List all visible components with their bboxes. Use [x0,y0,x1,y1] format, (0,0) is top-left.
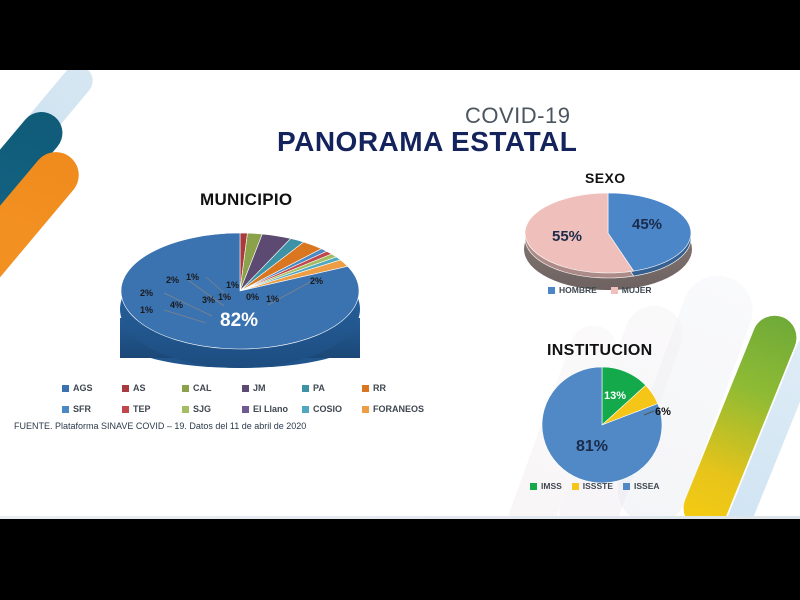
chart-institucion[interactable]: 13% 6% 81% [540,365,680,490]
legend-label: HOMBRE [559,285,597,295]
letterbox-top [0,0,800,70]
legend-label: JM [253,383,266,393]
pie-label-mujer: 55% [552,228,582,245]
legend-swatch-icon [623,483,630,490]
legend-label: FORANEOS [373,404,424,414]
pie-data-label: 2% [310,276,323,286]
legend-label: AS [133,383,146,393]
legend-item[interactable]: JM [242,383,302,393]
legend-swatch-icon [122,385,129,392]
legend-label: ISSEA [634,481,660,491]
legend-label: TEP [133,404,151,414]
chart-title-sexo: SEXO [585,170,626,186]
pie-data-label: 1% [226,280,239,290]
presentation-slide: COVID-19 PANORAMA ESTATAL MUNICIPIO 82% … [0,70,800,519]
legend-swatch-icon [302,385,309,392]
leader-line [164,310,206,323]
legend-label: SFR [73,404,91,414]
legend-label: El Llano [253,404,288,414]
source-footnote: FUENTE. Plataforma SINAVE COVID – 19. Da… [14,421,306,431]
pie-data-label: 3% [202,295,215,305]
chart-title-institucion: INSTITUCION [547,342,653,360]
legend-swatch-icon [611,287,618,294]
pie-data-label: 0% [246,292,259,302]
legend-item[interactable]: ISSEA [623,481,660,491]
legend-item[interactable]: TEP [122,404,182,414]
legend-institucion[interactable]: IMSSISSSTEISSEA [530,481,660,491]
legend-swatch-icon [572,483,579,490]
pie-data-label: 1% [140,305,153,315]
legend-item[interactable]: RR [362,383,422,393]
legend-item[interactable]: CAL [182,383,242,393]
legend-swatch-icon [182,385,189,392]
legend-swatch-icon [362,406,369,413]
pie-label-imss: 13% [604,390,626,402]
legend-swatch-icon [530,483,537,490]
legend-label: MUJER [622,285,652,295]
legend-item[interactable]: SFR [62,404,122,414]
legend-item[interactable]: AGS [62,383,122,393]
legend-label: AGS [73,383,93,393]
legend-item[interactable]: El Llano [242,404,302,414]
page-title: PANORAMA ESTATAL [277,126,577,158]
pie-leader-lines [120,210,380,410]
pie-label-issea: 81% [576,438,608,456]
legend-swatch-icon [362,385,369,392]
legend-label: COSIO [313,404,342,414]
pie-data-label: 2% [166,275,179,285]
legend-swatch-icon [242,406,249,413]
pie-data-label: 4% [170,300,183,310]
legend-swatch-icon [182,406,189,413]
legend-item[interactable]: FORANEOS [362,404,422,414]
legend-item[interactable]: IMSS [530,481,562,491]
pie-data-label: 1% [186,272,199,282]
legend-swatch-icon [302,406,309,413]
legend-item[interactable]: SJG [182,404,242,414]
pie-sexo-surface [524,192,692,274]
legend-item[interactable]: ISSSTE [572,481,613,491]
legend-label: SJG [193,404,211,414]
legend-swatch-icon [548,287,555,294]
pie-data-label: 1% [218,292,231,302]
legend-label: CAL [193,383,212,393]
chart-title-municipio: MUNICIPIO [200,190,292,210]
legend-item[interactable]: AS [122,383,182,393]
pie-municipio-datalabels: 1%2%4%2%3%1%1%1%0%1%2% [120,210,380,410]
pie-institucion-surface [540,365,668,487]
slide-viewport: COVID-19 PANORAMA ESTATAL MUNICIPIO 82% … [0,0,800,600]
legend-item[interactable]: PA [302,383,362,393]
legend-swatch-icon [62,385,69,392]
legend-label: ISSSTE [583,481,613,491]
legend-municipio[interactable]: AGSASCALJMPARRSFRTEPSJGEl LlanoCOSIOFORA… [62,383,422,414]
legend-item[interactable]: MUJER [611,285,652,295]
legend-label: PA [313,383,325,393]
legend-item[interactable]: COSIO [302,404,362,414]
legend-label: RR [373,383,386,393]
pie-label-issste: 6% [655,406,671,418]
legend-swatch-icon [122,406,129,413]
pie-label-hombre: 45% [632,216,662,233]
legend-swatch-icon [242,385,249,392]
pie-data-label: 2% [140,288,153,298]
legend-item[interactable]: HOMBRE [548,285,597,295]
letterbox-bottom [0,519,800,600]
legend-label: IMSS [541,481,562,491]
pie-data-label: 1% [266,294,279,304]
legend-sexo[interactable]: HOMBREMUJER [548,285,652,295]
legend-swatch-icon [62,406,69,413]
